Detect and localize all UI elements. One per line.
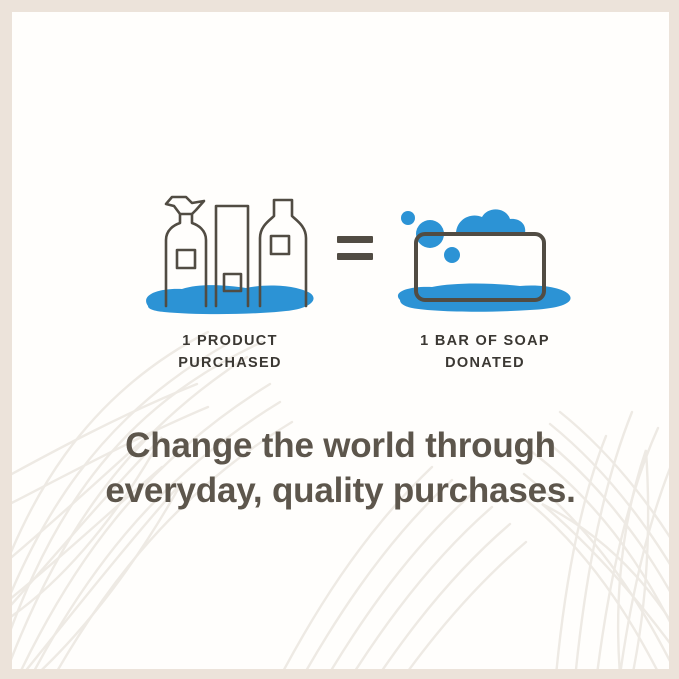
equals-bar-bottom (337, 253, 373, 260)
donation-equation-row (12, 182, 669, 332)
bubble-small-upper (401, 211, 415, 225)
soap-caption: 1 BAR OF SOAP DONATED (380, 330, 590, 375)
headline-line-2: everyday, quality purchases. (12, 469, 669, 514)
products-icon-block (130, 182, 330, 332)
products-caption-line-2: PURCHASED (130, 352, 330, 374)
poster-canvas: 1 PRODUCT PURCHASED 1 BAR OF SOAP DONATE… (12, 12, 669, 669)
products-caption: 1 PRODUCT PURCHASED (130, 330, 330, 375)
headline: Change the world through everyday, quali… (12, 424, 669, 514)
bubble-small-lower (444, 247, 460, 263)
soap-caption-line-2: DONATED (380, 352, 590, 374)
equals-bar-top (337, 236, 373, 243)
promo-poster: 1 PRODUCT PURCHASED 1 BAR OF SOAP DONATE… (0, 0, 679, 679)
soap-icon-block (390, 182, 580, 332)
headline-line-1: Change the world through (12, 424, 669, 469)
three-product-bottles-icon (130, 182, 330, 332)
products-caption-line-1: 1 PRODUCT (130, 330, 330, 352)
equals-sign-icon (337, 236, 373, 260)
blue-puddle-shape (146, 285, 313, 314)
bar-of-soap-icon (390, 182, 580, 332)
soap-caption-line-1: 1 BAR OF SOAP (380, 330, 590, 352)
